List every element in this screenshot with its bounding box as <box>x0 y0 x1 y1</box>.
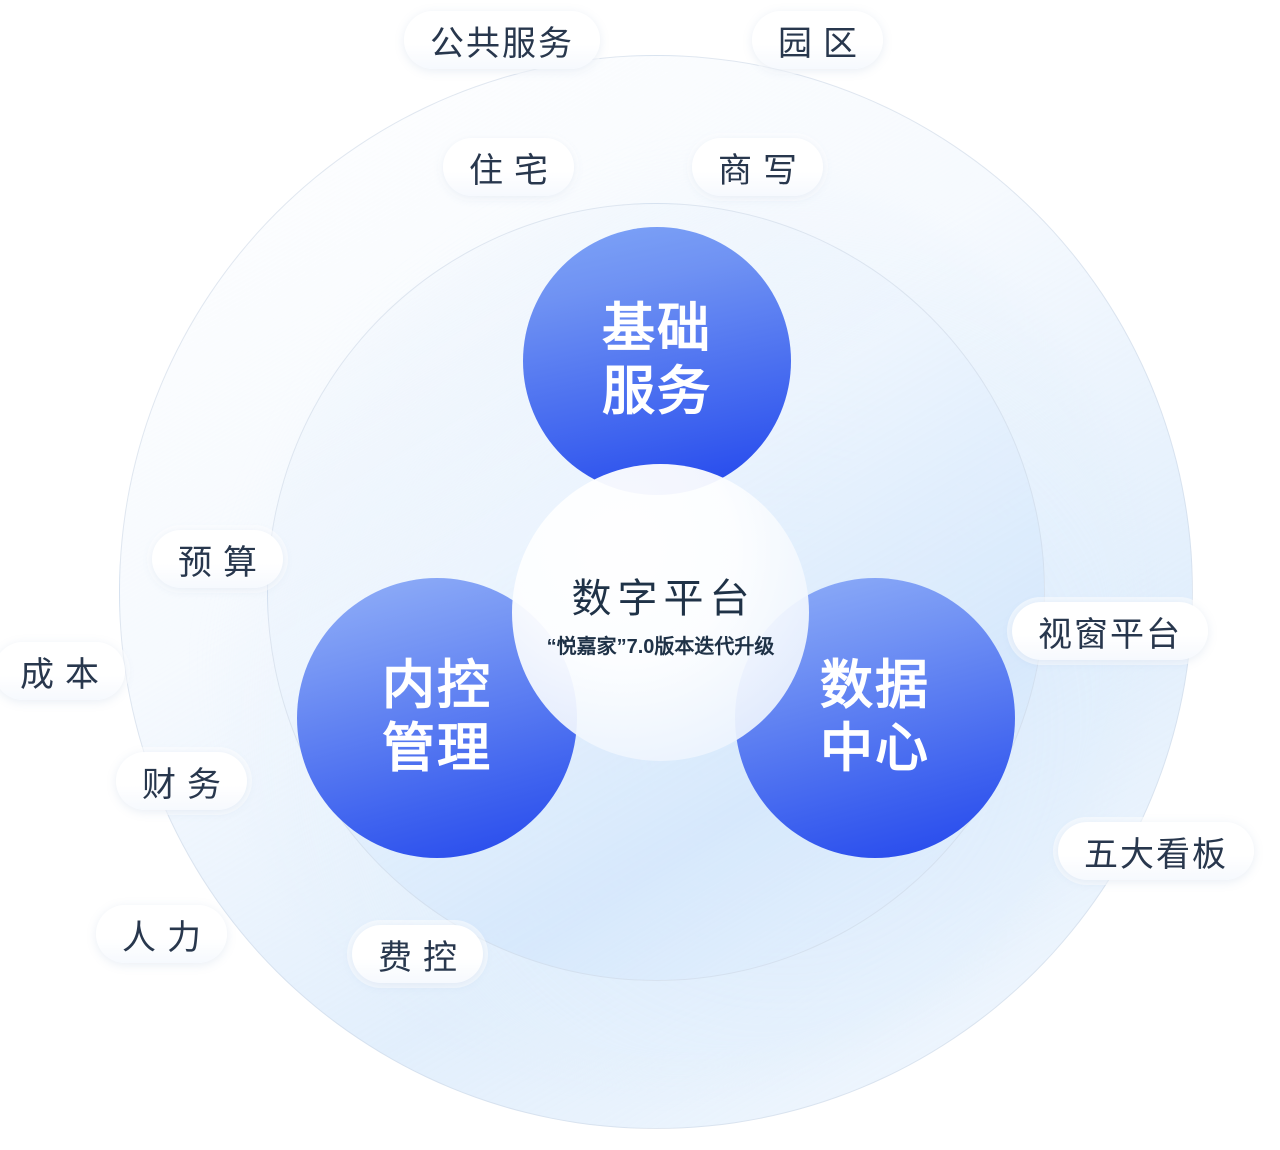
center-title: 数字平台 <box>566 566 756 624</box>
center-platform-bubble[interactable]: 数字平台 “悦嘉家”7.0版本迭代升级 <box>512 464 809 761</box>
circle-basic-service-label-line1: 基础 <box>602 298 712 361</box>
pill-residence[interactable]: 住宅 <box>443 138 574 196</box>
diagram-canvas: 基础 服务 内控 管理 数据 中心 数字平台 “悦嘉家”7.0版本迭代升级 公共… <box>0 0 1280 1150</box>
pill-expense-control[interactable]: 费控 <box>352 925 483 983</box>
pill-public-service[interactable]: 公共服务 <box>404 11 600 69</box>
pill-finance[interactable]: 财务 <box>116 752 247 810</box>
pill-budget[interactable]: 预算 <box>152 530 283 588</box>
circle-basic-service-label-line2: 服务 <box>602 361 712 424</box>
circle-basic-service[interactable]: 基础 服务 <box>523 227 791 495</box>
pill-five-dashboards[interactable]: 五大看板 <box>1058 822 1254 880</box>
circle-internal-control-label-line1: 内控 <box>382 655 492 718</box>
pill-park[interactable]: 园区 <box>752 11 883 69</box>
pill-cost[interactable]: 成本 <box>0 642 125 700</box>
center-subtitle: “悦嘉家”7.0版本迭代升级 <box>547 630 775 659</box>
circle-data-center-label-line2: 中心 <box>820 718 930 781</box>
pill-human-resource[interactable]: 人力 <box>96 905 227 963</box>
pill-commercial-write[interactable]: 商写 <box>692 138 823 196</box>
circle-internal-control-label-line2: 管理 <box>382 718 492 781</box>
pill-window-platform[interactable]: 视窗平台 <box>1012 602 1208 660</box>
circle-data-center-label-line1: 数据 <box>820 655 930 718</box>
